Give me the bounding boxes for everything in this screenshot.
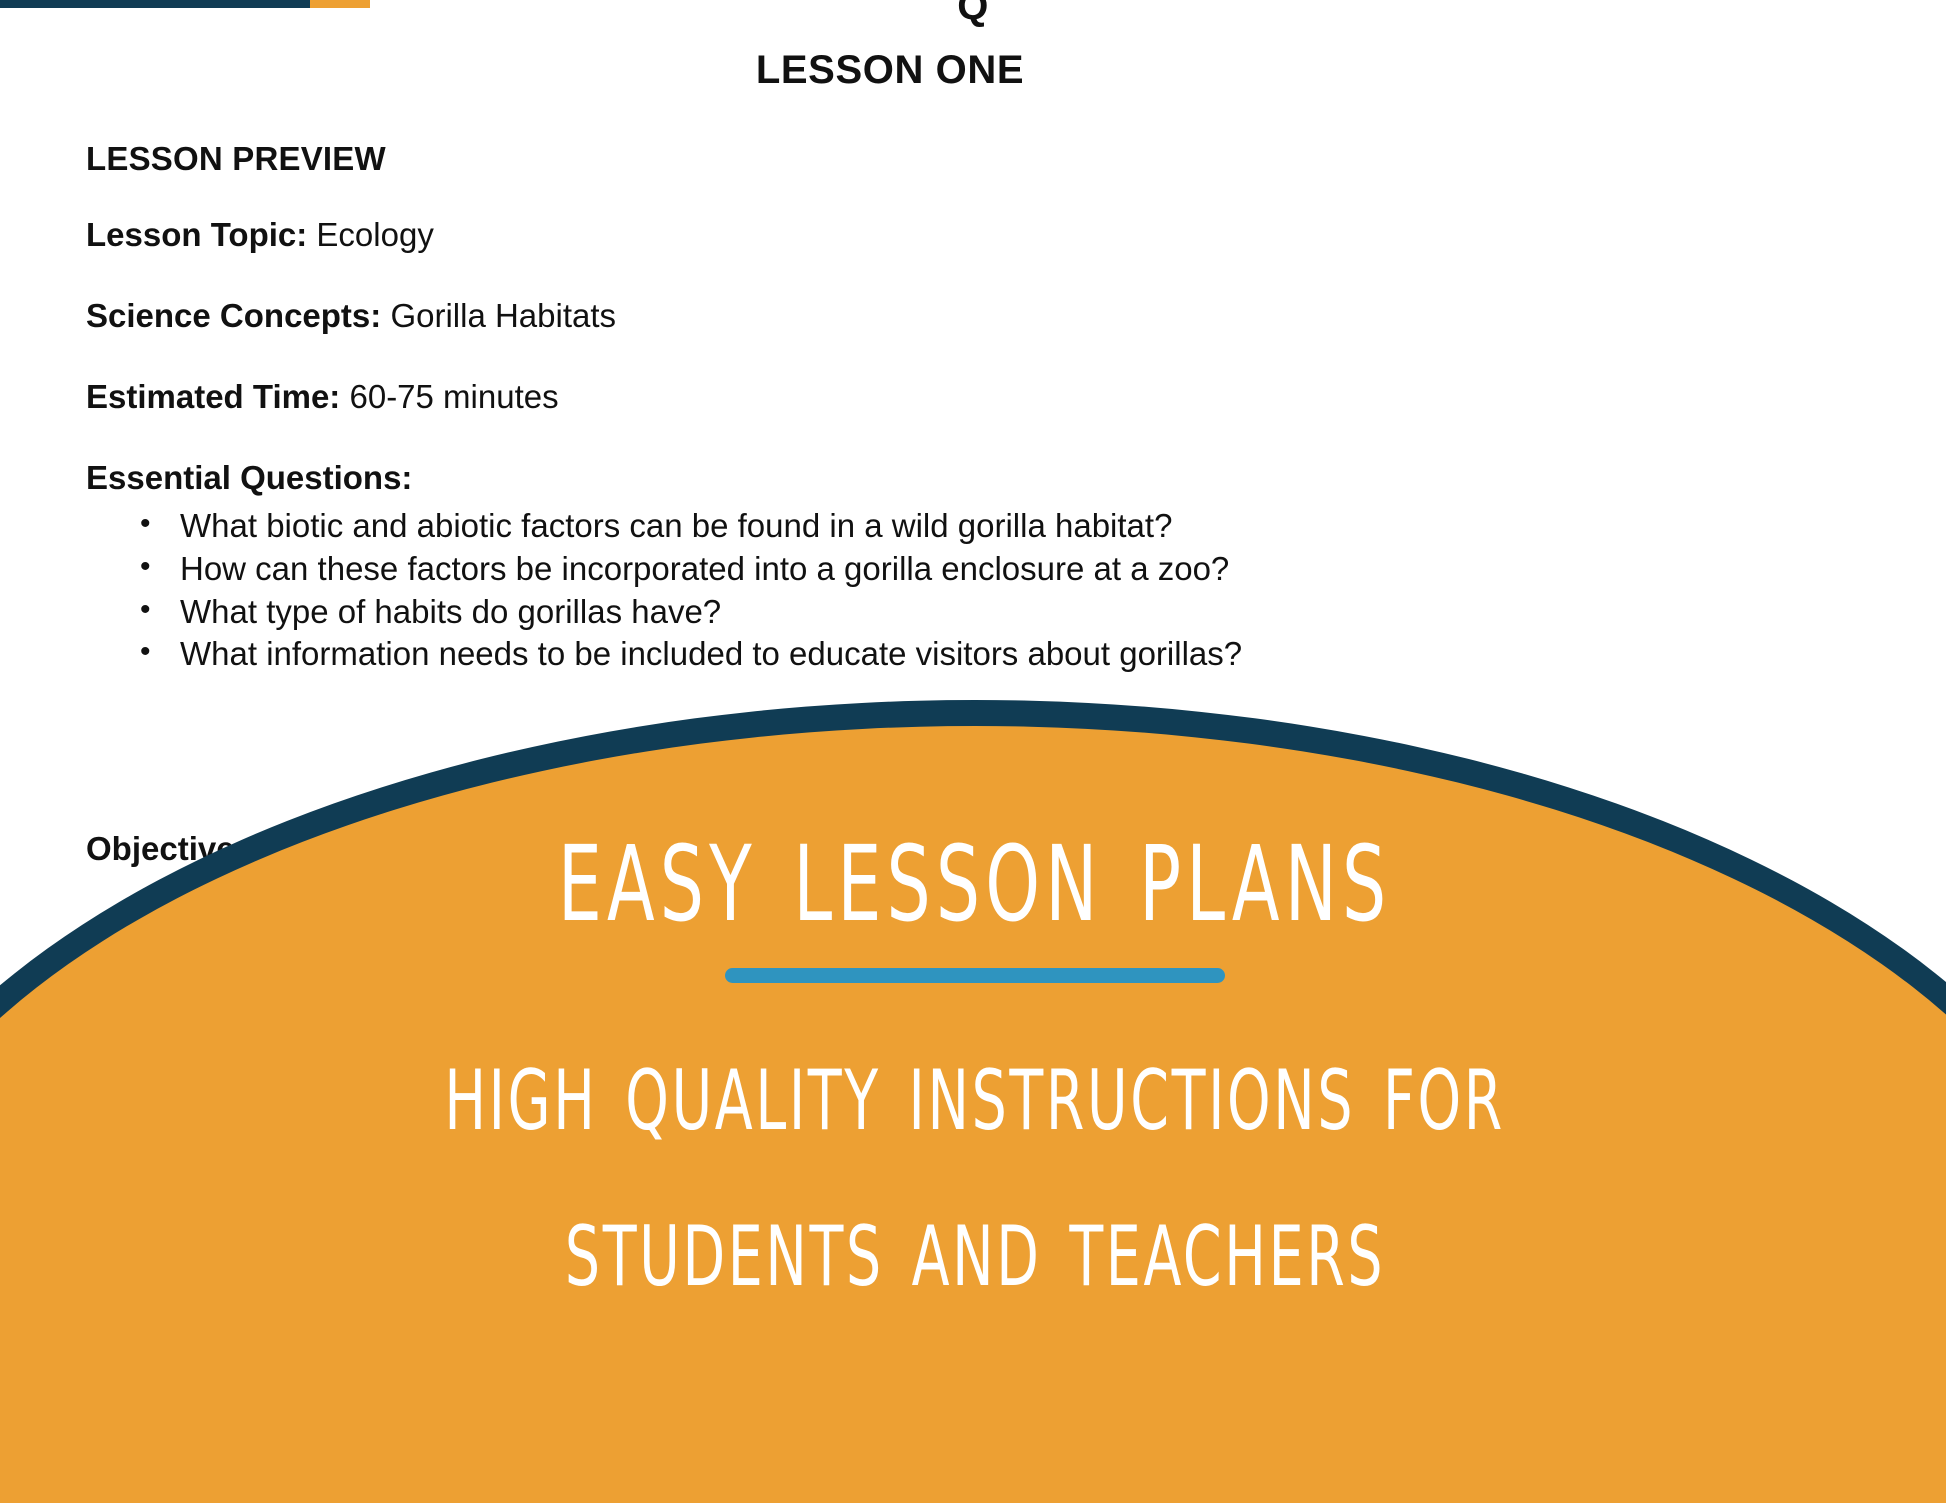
overlay-subtitle-line-2: students and teachers <box>565 1186 1385 1304</box>
overlay-title: Easy Lesson Plans <box>558 796 1392 944</box>
essential-questions-heading: Essential Questions: <box>86 459 1586 497</box>
meta-lesson-topic: Lesson Topic: Ecology <box>86 216 1586 254</box>
list-item: What information needs to be included to… <box>180 633 1586 676</box>
meta-value: 60-75 minutes <box>349 378 558 415</box>
overlay-divider <box>725 968 1225 983</box>
meta-value: Gorilla Habitats <box>390 297 616 334</box>
overlay-subtitle-line-1: High quality instructions for <box>445 1030 1506 1148</box>
page-title: LESSON ONE <box>0 48 1780 93</box>
meta-label: Lesson Topic: <box>86 216 307 253</box>
lesson-preview-heading: LESSON PREVIEW <box>86 140 1586 178</box>
essential-questions-list: What biotic and abiotic factors can be f… <box>86 505 1586 677</box>
overlay-banner-oval: Easy Lesson Plans High quality instructi… <box>0 700 1946 1503</box>
document-page: Q LESSON ONE LESSON PREVIEW Lesson Topic… <box>0 0 1946 1503</box>
overlay-banner-content: Easy Lesson Plans High quality instructi… <box>0 726 1946 1503</box>
meta-estimated-time: Estimated Time: 60-75 minutes <box>86 378 1586 416</box>
meta-value: Ecology <box>316 216 433 253</box>
lesson-preview-section: LESSON PREVIEW Lesson Topic: Ecology Sci… <box>86 140 1586 676</box>
meta-label: Estimated Time: <box>86 378 340 415</box>
list-item: What biotic and abiotic factors can be f… <box>180 505 1586 548</box>
list-item: What type of habits do gorillas have? <box>180 591 1586 634</box>
meta-label: Science Concepts: <box>86 297 381 334</box>
meta-science-concepts: Science Concepts: Gorilla Habitats <box>86 297 1586 335</box>
list-item: How can these factors be incorporated in… <box>180 548 1586 591</box>
